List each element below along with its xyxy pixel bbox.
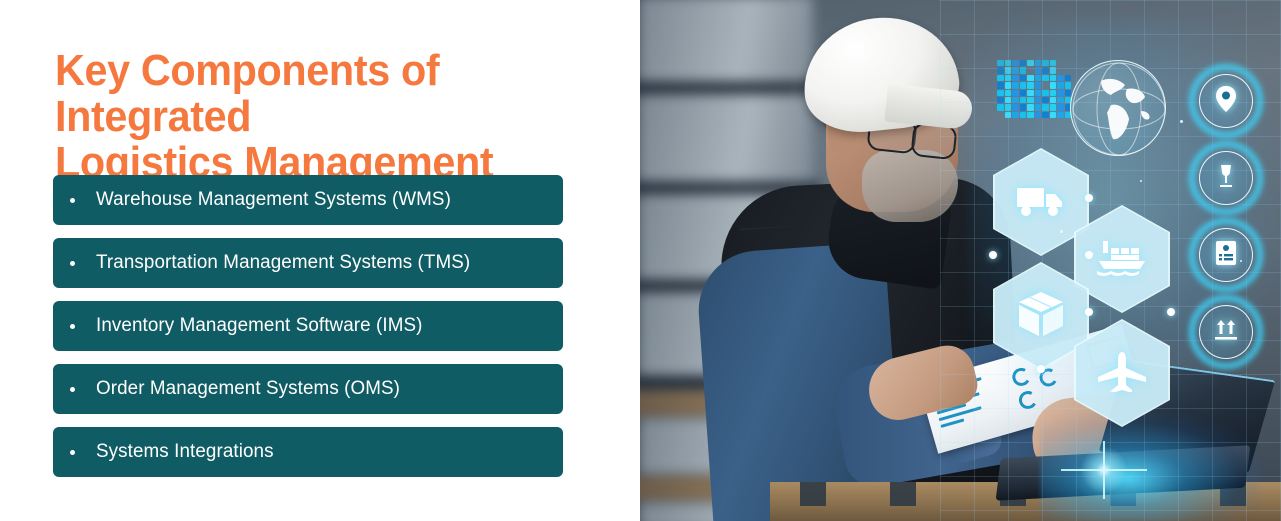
list-item-label: Inventory Management Software (IMS) [96,315,423,337]
page-title: Key Components of Integrated Logistics M… [55,48,581,186]
hero-photo [640,0,1281,521]
bullet-icon [70,324,75,329]
bullet-icon [70,450,75,455]
bullet-icon [70,198,75,203]
laptop-glow [1040,412,1260,521]
slide-root: Key Components of Integrated Logistics M… [0,0,1281,521]
list-item[interactable]: Warehouse Management Systems (WMS) [53,175,563,225]
worker-beard [862,150,958,222]
list-item[interactable]: Systems Integrations [53,427,563,477]
list-item[interactable]: Order Management Systems (OMS) [53,364,563,414]
components-list: Warehouse Management Systems (WMS) Trans… [53,175,563,490]
list-item-label: Transportation Management Systems (TMS) [96,252,470,274]
list-item-label: Order Management Systems (OMS) [96,378,400,400]
bullet-icon [70,387,75,392]
clipboard-clamp [1086,335,1126,369]
list-item-label: Warehouse Management Systems (WMS) [96,189,451,211]
bullet-icon [70,261,75,266]
list-item[interactable]: Transportation Management Systems (TMS) [53,238,563,288]
content-panel: Key Components of Integrated Logistics M… [0,0,640,521]
list-item-label: Systems Integrations [96,441,274,463]
glow-spark [1074,440,1134,500]
list-item[interactable]: Inventory Management Software (IMS) [53,301,563,351]
